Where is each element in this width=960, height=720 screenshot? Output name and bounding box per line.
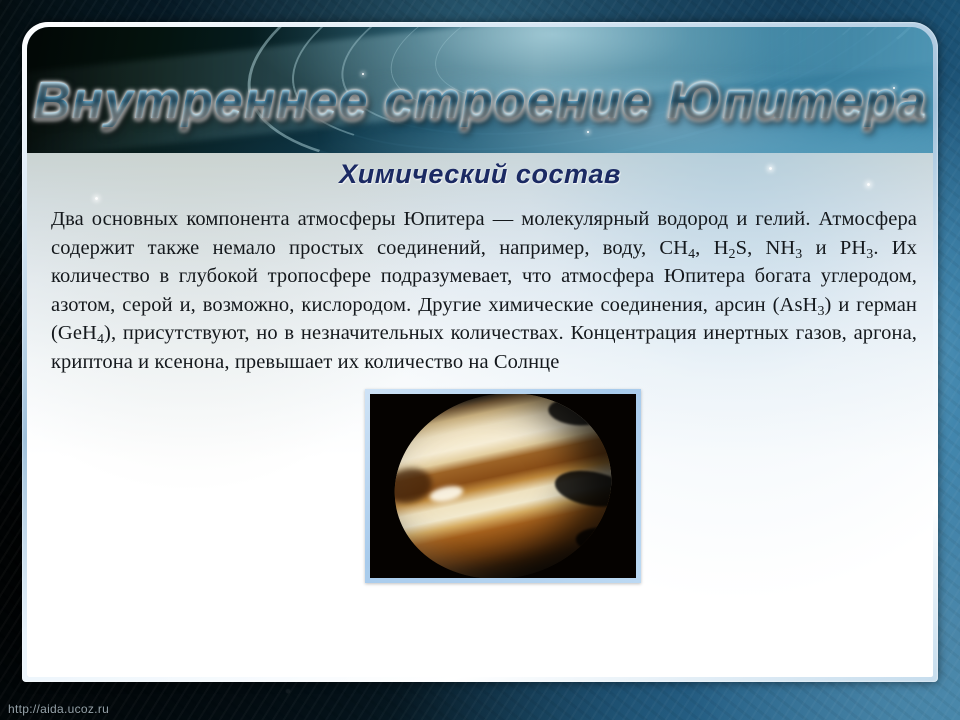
section-subtitle: Химический состав <box>27 159 933 190</box>
header-banner: Внутреннее строение Юпитера <box>27 27 933 153</box>
subscript: 4 <box>97 332 104 347</box>
paragraph-part: , H <box>695 237 728 259</box>
jupiter-image-frame <box>365 389 641 583</box>
jupiter-left-shade <box>383 464 435 507</box>
paragraph-part: S, NH <box>736 237 796 259</box>
jupiter-shadow-spot <box>547 396 605 428</box>
jupiter-planet-icon <box>377 394 628 578</box>
watermark-url[interactable]: http://aida.ucoz.ru <box>8 702 109 716</box>
jupiter-image <box>370 394 636 578</box>
star-icon <box>587 131 589 133</box>
slide-frame-inner: Внутреннее строение Юпитера Химический с… <box>27 27 933 677</box>
subscript: 3 <box>817 303 824 318</box>
paragraph-part: и PH <box>802 237 866 259</box>
jupiter-highlight <box>428 484 464 505</box>
subscript: 2 <box>728 246 735 261</box>
body-paragraph: Два основных компонента атмосферы Юпитер… <box>51 205 917 376</box>
jupiter-shadow-spot <box>575 525 629 558</box>
jupiter-shadow-spot <box>552 465 629 511</box>
sparkle-icon <box>95 197 98 200</box>
page-title: Внутреннее строение Юпитера <box>27 75 933 127</box>
slide: Внутреннее строение Юпитера Химический с… <box>0 0 960 720</box>
slide-frame: Внутреннее строение Юпитера Химический с… <box>22 22 938 682</box>
paragraph-part: ), присутствуют, но в незначительных кол… <box>51 322 917 373</box>
content-area: Химический состав Два основных компонент… <box>27 153 933 677</box>
